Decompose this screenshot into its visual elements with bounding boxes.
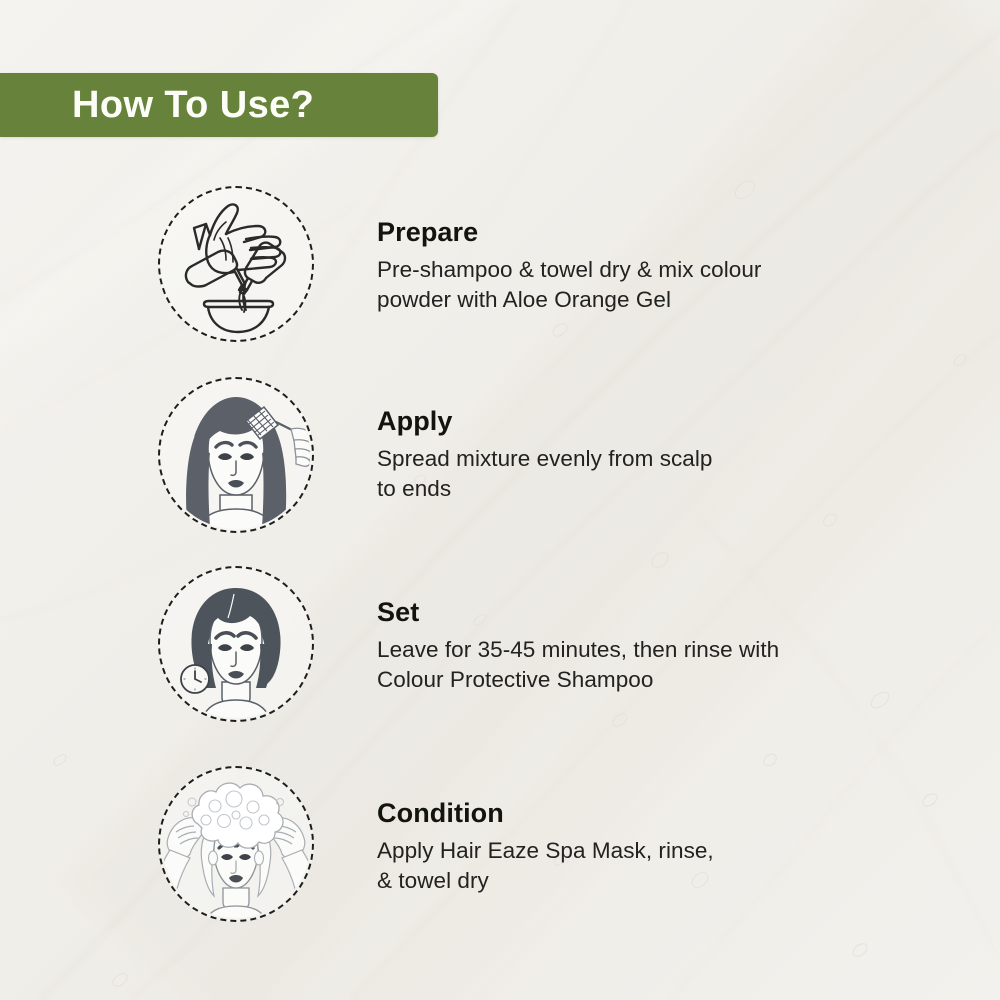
step-heading: Condition (377, 799, 937, 829)
step-text-set: Set Leave for 35-45 minutes, then rinse … (377, 598, 937, 695)
woman-washing-lather-icon (158, 766, 314, 922)
woman-applying-brush-icon (158, 377, 314, 533)
step-body: Leave for 35-45 minutes, then rinse with… (377, 635, 937, 695)
step-text-prepare: Prepare Pre-shampoo & towel dry & mix co… (377, 218, 937, 315)
step-heading: Prepare (377, 218, 937, 248)
glove-bottle-bowl-icon (158, 186, 314, 342)
clock-badge-icon (181, 665, 209, 693)
page-title: How To Use? (72, 86, 314, 124)
step-text-condition: Condition Apply Hair Eaze Spa Mask, rins… (377, 799, 937, 896)
step-heading: Set (377, 598, 937, 628)
step-icon-set (158, 566, 314, 722)
step-text-apply: Apply Spread mixture evenly from scalp t… (377, 407, 937, 504)
step-body: Apply Hair Eaze Spa Mask, rinse, & towel… (377, 836, 937, 896)
steps-list: Prepare Pre-shampoo & towel dry & mix co… (0, 0, 1000, 1000)
step-body: Spread mixture evenly from scalp to ends (377, 444, 937, 504)
step-heading: Apply (377, 407, 937, 437)
step-body: Pre-shampoo & towel dry & mix colour pow… (377, 255, 937, 315)
step-icon-condition (158, 766, 314, 922)
woman-waiting-clock-icon (158, 566, 314, 722)
header-banner: How To Use? (0, 73, 438, 137)
step-icon-prepare (158, 186, 314, 342)
step-icon-apply (158, 377, 314, 533)
